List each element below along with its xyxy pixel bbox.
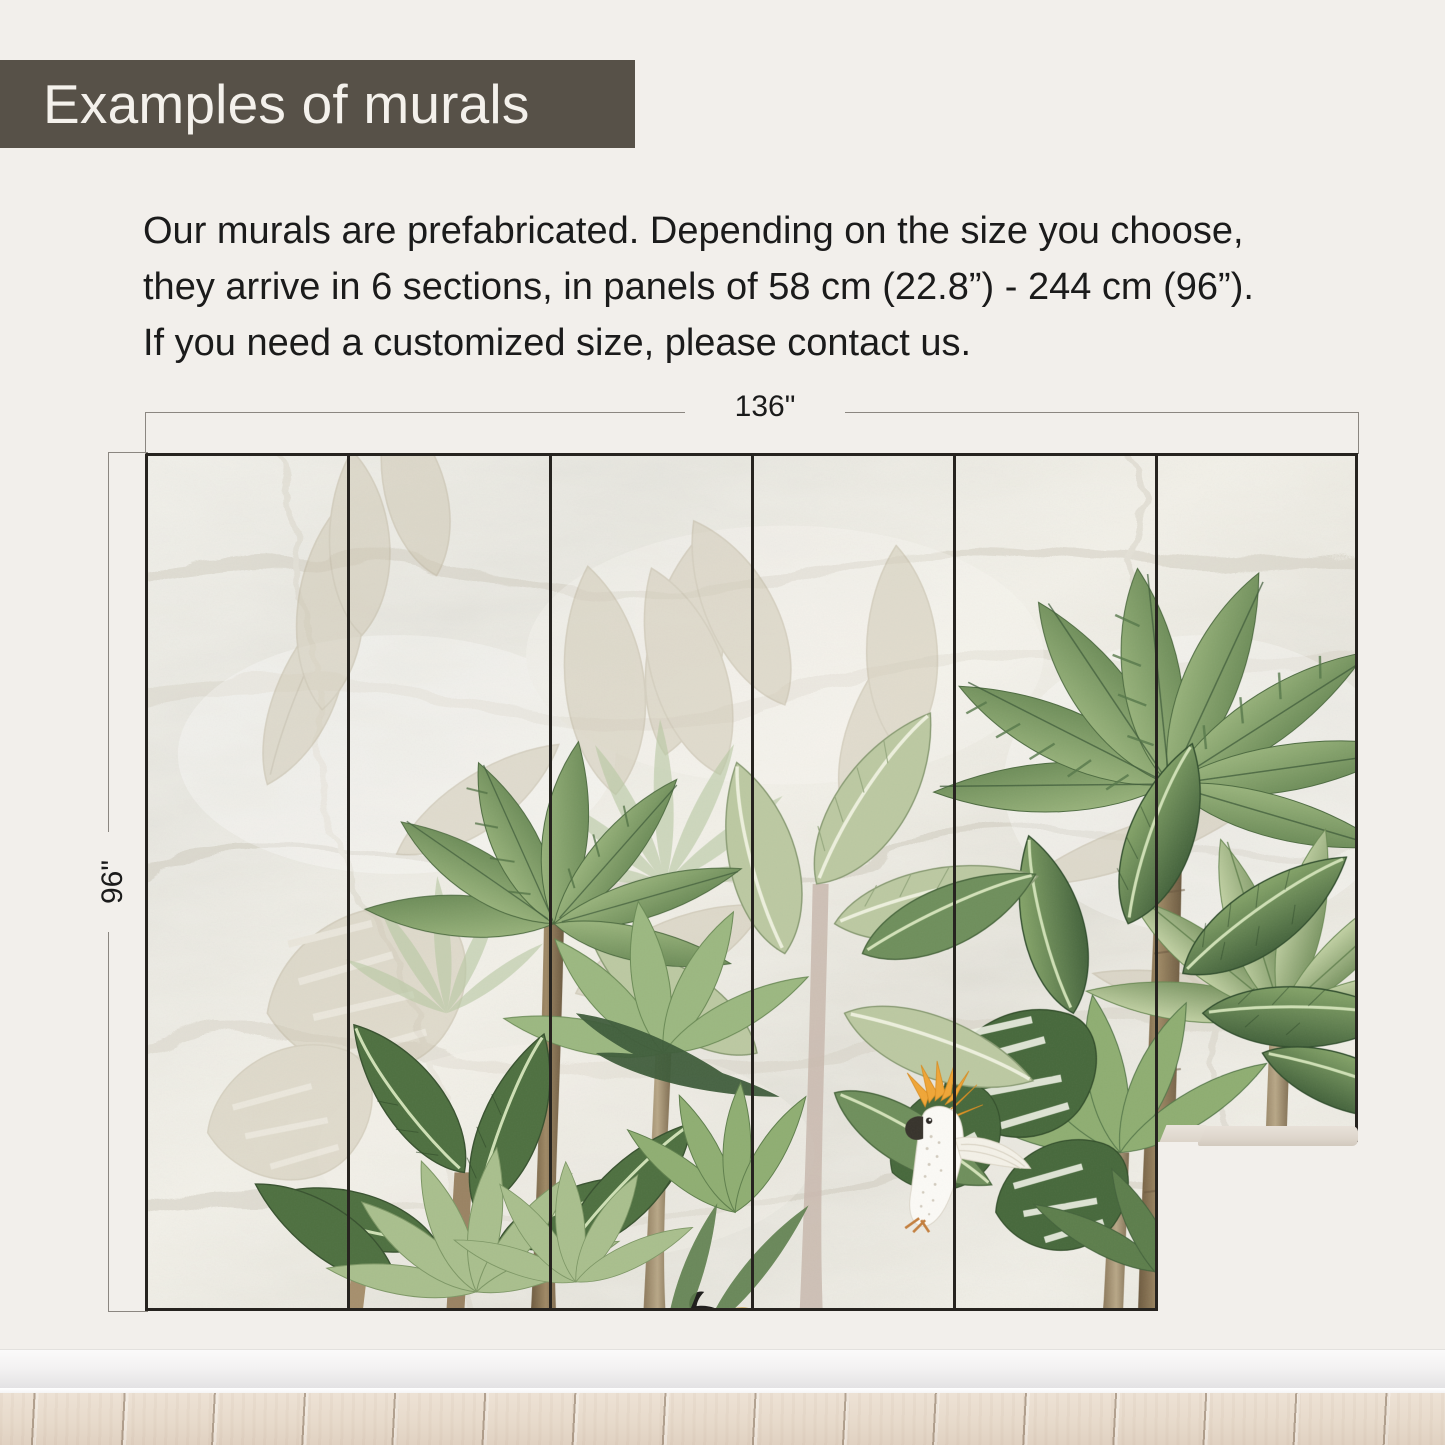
dimension-height-label: 96" [63, 832, 163, 932]
room-overlay-cutout [1158, 1142, 1362, 1314]
wood-floor [0, 1393, 1445, 1445]
description-line-1: Our murals are prefabricated. Depending … [143, 203, 1323, 259]
baseboard [0, 1349, 1445, 1395]
dimension-width-tick-left [145, 412, 146, 454]
dimension-width: 136" [145, 412, 1359, 413]
description-line-3: If you need a customized size, please co… [143, 315, 1323, 371]
description-text: Our murals are prefabricated. Depending … [143, 203, 1323, 371]
dimension-width-label: 136" [685, 390, 845, 424]
wall-shelf [1198, 1126, 1358, 1146]
description-line-2: they arrive in 6 sections, in panels of … [143, 259, 1323, 315]
dimension-height-line-top [108, 452, 109, 832]
screenshot-canvas: 136" 96" Examples of murals Our murals a… [0, 0, 1445, 1445]
dimension-height-line-bottom [108, 932, 109, 1312]
page-title: Examples of murals [0, 77, 530, 132]
dimension-height: 96" [108, 452, 109, 1312]
dimension-height-tick-bottom [108, 1311, 148, 1312]
title-banner: Examples of murals [0, 60, 635, 148]
floor-grain [0, 1393, 1445, 1445]
dimension-width-tick-right [1358, 412, 1359, 454]
dimension-width-line-right [845, 412, 1359, 413]
dimension-width-line-left [145, 412, 685, 413]
dimension-height-tick-top [108, 452, 148, 453]
